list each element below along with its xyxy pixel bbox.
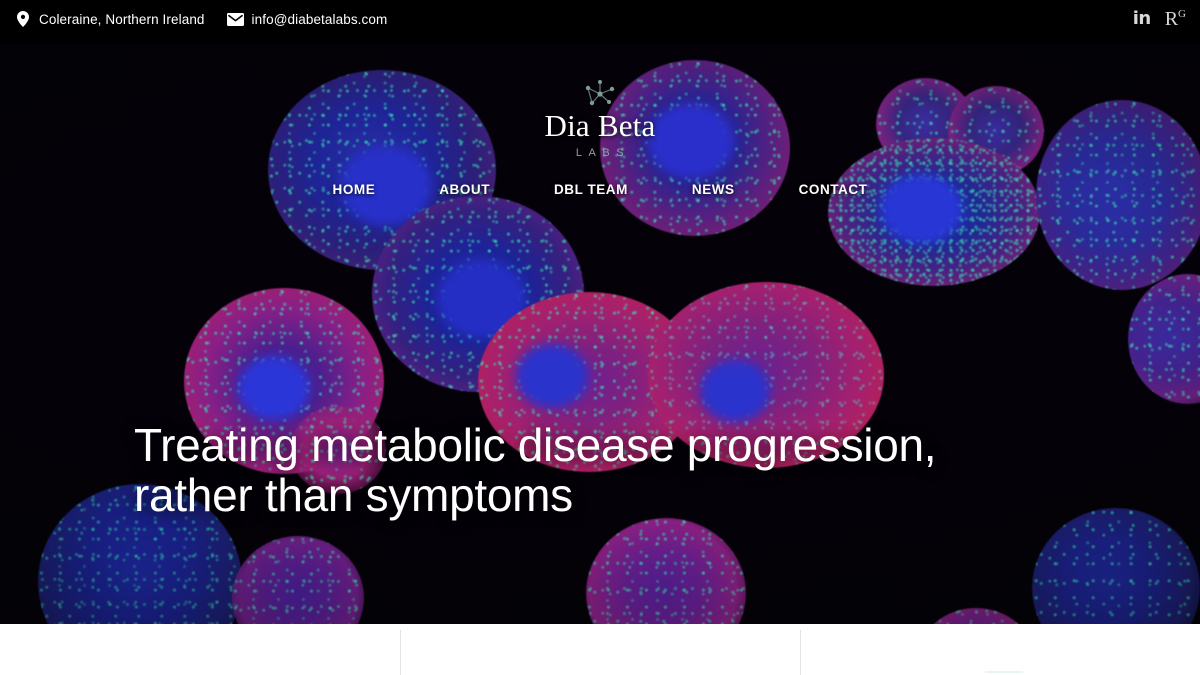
researchgate-icon[interactable]: RG	[1165, 9, 1186, 29]
cell-blob	[1128, 274, 1200, 404]
brand-name: Dia Beta	[545, 110, 656, 143]
linkedin-icon[interactable]: in	[1133, 10, 1151, 28]
cell-nucleus	[238, 356, 310, 420]
cell-blob	[586, 518, 746, 624]
cell-blob	[232, 536, 364, 624]
social-links: in RG	[1133, 0, 1186, 38]
brand-logo[interactable]: Dia Beta LABS	[0, 78, 1200, 159]
nav-item-home[interactable]: HOME	[327, 178, 382, 201]
column-divider-2	[800, 630, 801, 675]
cell-blob	[1032, 508, 1200, 624]
headline-line-1: Treating metabolic disease progression,	[134, 420, 1034, 470]
headline-line-2: rather than symptoms	[134, 470, 1034, 520]
nav-item-contact[interactable]: CONTACT	[793, 178, 874, 201]
cell-blob	[916, 608, 1036, 624]
hero-headline: Treating metabolic disease progression, …	[134, 420, 1034, 520]
cell-nucleus	[516, 344, 588, 408]
email-contact[interactable]: info@diabetalabs.com	[227, 10, 388, 28]
location-text: Coleraine, Northern Ireland	[39, 12, 205, 27]
top-utility-bar: Coleraine, Northern Ireland info@diabeta…	[0, 0, 1200, 38]
brand-tagline: LABS	[570, 147, 630, 159]
nav-item-about[interactable]: ABOUT	[433, 178, 496, 201]
nav-item-news[interactable]: NEWS	[686, 178, 741, 201]
envelope-icon	[227, 10, 245, 28]
cell-nucleus	[700, 360, 770, 422]
hero-top-shade	[0, 38, 1200, 44]
email-text: info@diabetalabs.com	[252, 12, 388, 27]
column-divider-1	[400, 630, 401, 675]
researchgate-g: G	[1178, 9, 1186, 20]
molecule-icon	[578, 78, 622, 108]
topbar-contact-group: Coleraine, Northern Ireland info@diabeta…	[0, 10, 387, 28]
researchgate-r: R	[1165, 9, 1178, 29]
hero-section: Dia Beta LABS HOME ABOUT DBL TEAM NEWS C…	[0, 38, 1200, 624]
page-root: Coleraine, Northern Ireland info@diabeta…	[0, 0, 1200, 675]
map-pin-icon	[14, 10, 32, 28]
nav-item-dbl-team[interactable]: DBL TEAM	[548, 178, 634, 201]
main-navigation: HOME ABOUT DBL TEAM NEWS CONTACT	[0, 178, 1200, 201]
band-accent-line	[985, 671, 1023, 673]
content-band	[0, 624, 1200, 675]
location-contact: Coleraine, Northern Ireland	[14, 10, 205, 28]
